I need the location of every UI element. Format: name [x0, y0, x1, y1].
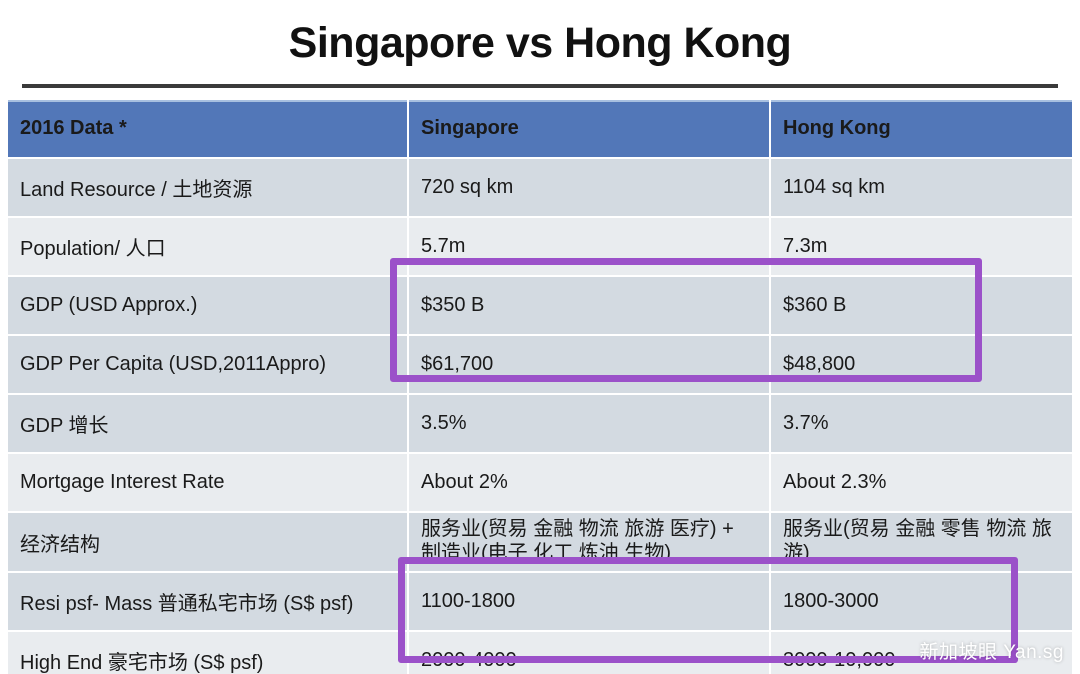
- slide-root: Singapore vs Hong Kong 2016 Data * Singa…: [0, 0, 1080, 674]
- table-header-row: 2016 Data * Singapore Hong Kong: [8, 100, 1072, 158]
- table-row: GDP Per Capita (USD,2011Appro) $61,700 $…: [8, 335, 1072, 394]
- cell-singapore: 1100-1800: [408, 572, 770, 631]
- cell-singapore: 2000-4000: [408, 631, 770, 674]
- cell-metric: GDP Per Capita (USD,2011Appro): [8, 335, 408, 394]
- table-row: GDP (USD Approx.) $350 B $360 B: [8, 276, 1072, 335]
- cell-hongkong: 3.7%: [770, 394, 1072, 453]
- table-row: Mortgage Interest Rate About 2% About 2.…: [8, 453, 1072, 512]
- comparison-table: 2016 Data * Singapore Hong Kong Land Res…: [8, 100, 1072, 674]
- cell-metric: Resi psf- Mass 普通私宅市场 (S$ psf): [8, 572, 408, 631]
- cell-singapore: $350 B: [408, 276, 770, 335]
- table-row: GDP 增长 3.5% 3.7%: [8, 394, 1072, 453]
- table-row: Resi psf- Mass 普通私宅市场 (S$ psf) 1100-1800…: [8, 572, 1072, 631]
- cell-singapore: 720 sq km: [408, 158, 770, 217]
- title-divider: [22, 84, 1058, 88]
- cell-singapore: 3.5%: [408, 394, 770, 453]
- table-header: 2016 Data * Singapore Hong Kong: [8, 100, 1072, 158]
- cell-metric: High End 豪宅市场 (S$ psf): [8, 631, 408, 674]
- cell-metric: 经济结构: [8, 512, 408, 572]
- table-row: 经济结构 服务业(贸易 金融 物流 旅游 医疗) + 制造业(电子 化工 炼油 …: [8, 512, 1072, 572]
- cell-metric: GDP 增长: [8, 394, 408, 453]
- cell-hongkong: 7.3m: [770, 217, 1072, 276]
- column-header-metric: 2016 Data *: [8, 100, 408, 158]
- cell-metric: Mortgage Interest Rate: [8, 453, 408, 512]
- cell-singapore: 服务业(贸易 金融 物流 旅游 医疗) + 制造业(电子 化工 炼油 生物): [408, 512, 770, 572]
- column-header-singapore: Singapore: [408, 100, 770, 158]
- cell-singapore: 5.7m: [408, 217, 770, 276]
- page-title: Singapore vs Hong Kong: [289, 22, 792, 65]
- cell-singapore: $61,700: [408, 335, 770, 394]
- column-header-hongkong: Hong Kong: [770, 100, 1072, 158]
- cell-metric: Land Resource / 土地资源: [8, 158, 408, 217]
- cell-hongkong: About 2.3%: [770, 453, 1072, 512]
- cell-hongkong: 服务业(贸易 金融 零售 物流 旅游): [770, 512, 1072, 572]
- cell-hongkong: 1800-3000: [770, 572, 1072, 631]
- watermark: 新加坡眼 Yan.sg: [919, 637, 1064, 664]
- comparison-table-wrapper: 2016 Data * Singapore Hong Kong Land Res…: [8, 100, 1072, 674]
- cell-hongkong: 1104 sq km: [770, 158, 1072, 217]
- cell-hongkong: $360 B: [770, 276, 1072, 335]
- cell-metric: GDP (USD Approx.): [8, 276, 408, 335]
- cell-hongkong: $48,800: [770, 335, 1072, 394]
- cell-singapore: About 2%: [408, 453, 770, 512]
- table-row: High End 豪宅市场 (S$ psf) 2000-4000 3000-10…: [8, 631, 1072, 674]
- table-row: Land Resource / 土地资源 720 sq km 1104 sq k…: [8, 158, 1072, 217]
- table-body: Land Resource / 土地资源 720 sq km 1104 sq k…: [8, 158, 1072, 674]
- table-row: Population/ 人口 5.7m 7.3m: [8, 217, 1072, 276]
- title-area: Singapore vs Hong Kong: [0, 0, 1080, 86]
- cell-metric: Population/ 人口: [8, 217, 408, 276]
